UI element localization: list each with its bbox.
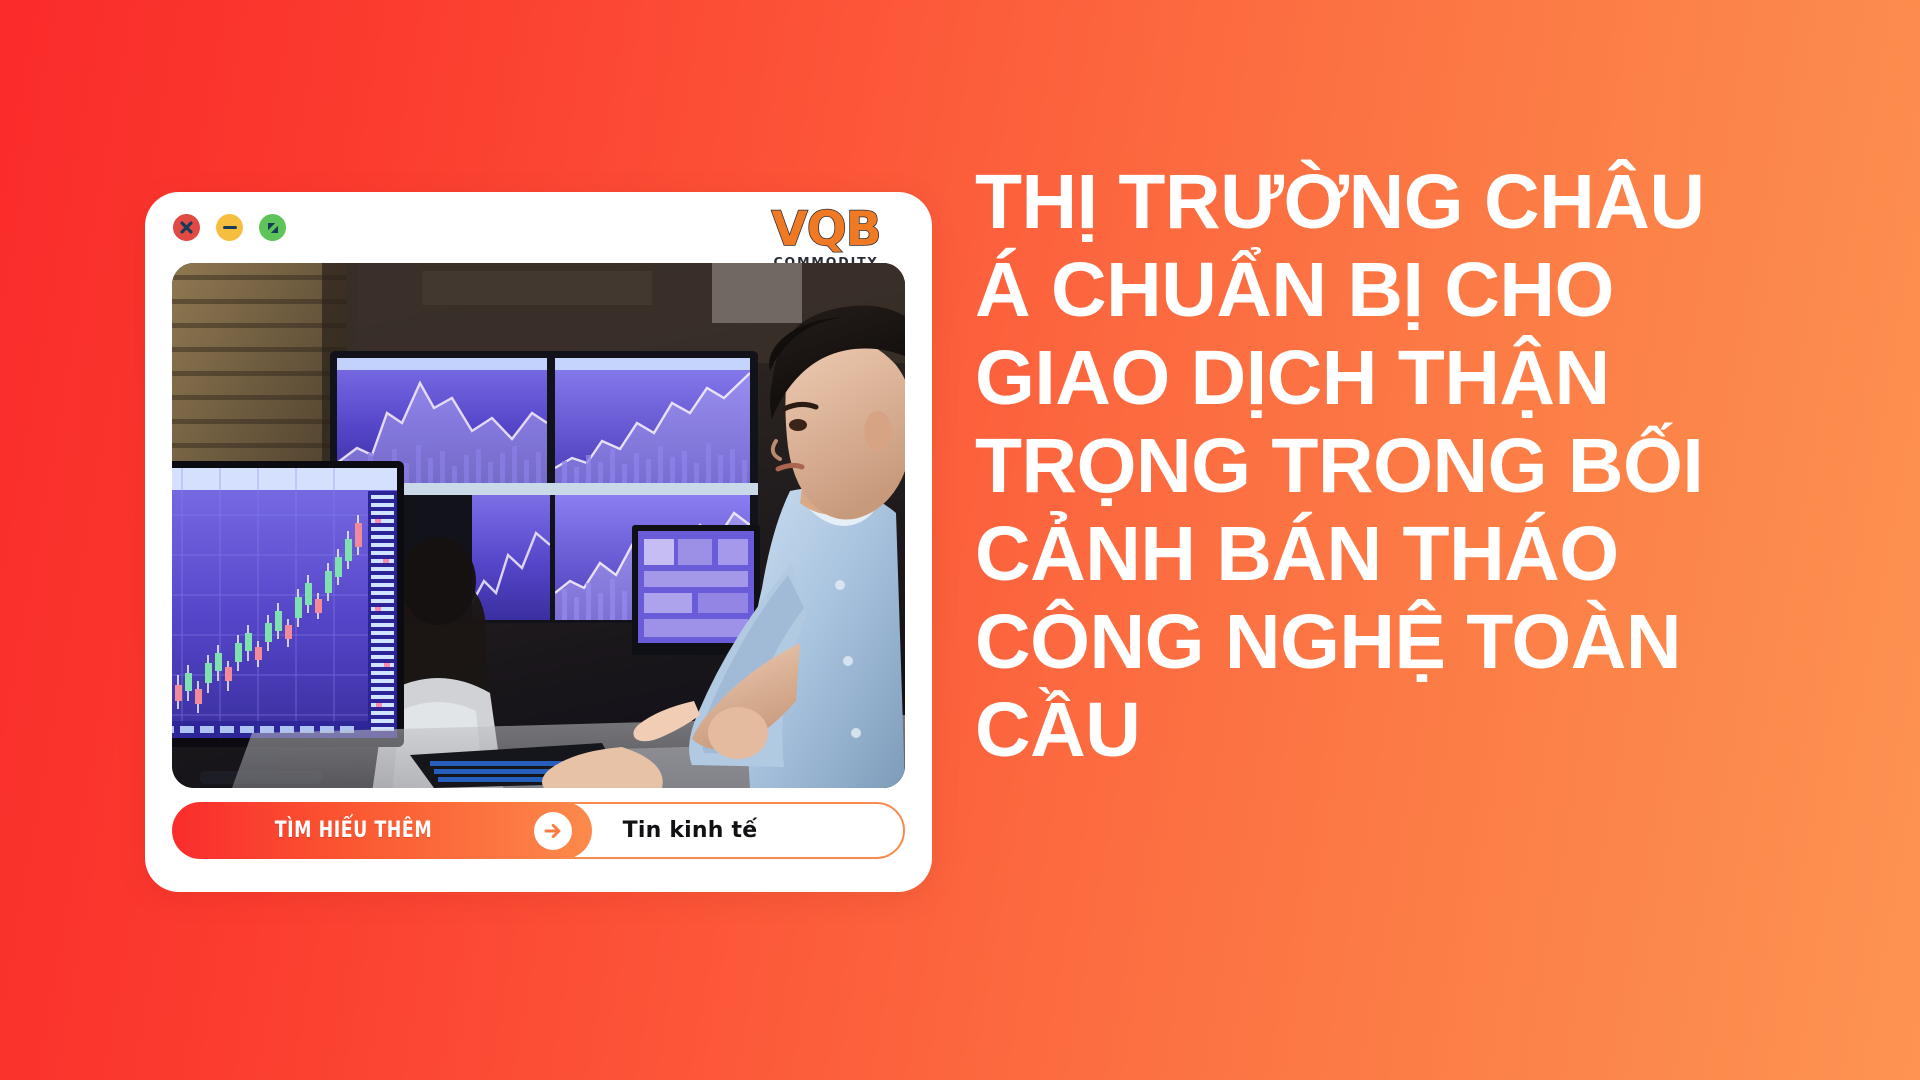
close-icon xyxy=(179,220,194,235)
headline-line: CẦU xyxy=(975,686,1805,774)
minimize-button[interactable] xyxy=(216,214,243,241)
maximize-icon xyxy=(265,220,281,236)
headline-line: GIAO DỊCH THẬN xyxy=(975,334,1805,422)
browser-window-card: VQB COMMODITY xyxy=(145,192,932,892)
minimize-icon xyxy=(222,220,238,235)
headline-line: TRỌNG TRONG BỐI xyxy=(975,422,1805,510)
window-controls xyxy=(173,214,286,241)
headline: THỊ TRƯỜNG CHÂU Á CHUẨN BỊ CHO GIAO DỊCH… xyxy=(975,158,1805,774)
headline-line: Á CHUẨN BỊ CHO xyxy=(975,246,1805,334)
photo-illustration xyxy=(172,263,905,788)
card-footer: Tin kinh tế TÌM HIỂU THÊM xyxy=(172,802,905,859)
learn-more-label: TÌM HIỂU THÊM xyxy=(274,818,431,843)
category-tag-label: Tin kinh tế xyxy=(623,818,758,843)
trading-floor-photo xyxy=(172,263,905,788)
headline-line: THỊ TRƯỜNG CHÂU xyxy=(975,158,1805,246)
social-card-canvas: VQB COMMODITY xyxy=(0,0,1920,1080)
brand-logo: VQB COMMODITY xyxy=(746,208,906,269)
headline-line: CẢNH BÁN THÁO xyxy=(975,510,1805,598)
maximize-button[interactable] xyxy=(259,214,286,241)
arrow-right-glyph xyxy=(541,819,565,843)
close-button[interactable] xyxy=(173,214,200,241)
headline-line: CÔNG NGHỆ TOÀN xyxy=(975,598,1805,686)
learn-more-button[interactable]: TÌM HIỂU THÊM xyxy=(172,802,592,859)
arrow-right-icon xyxy=(534,812,572,850)
logo-wordmark: VQB xyxy=(746,208,906,253)
